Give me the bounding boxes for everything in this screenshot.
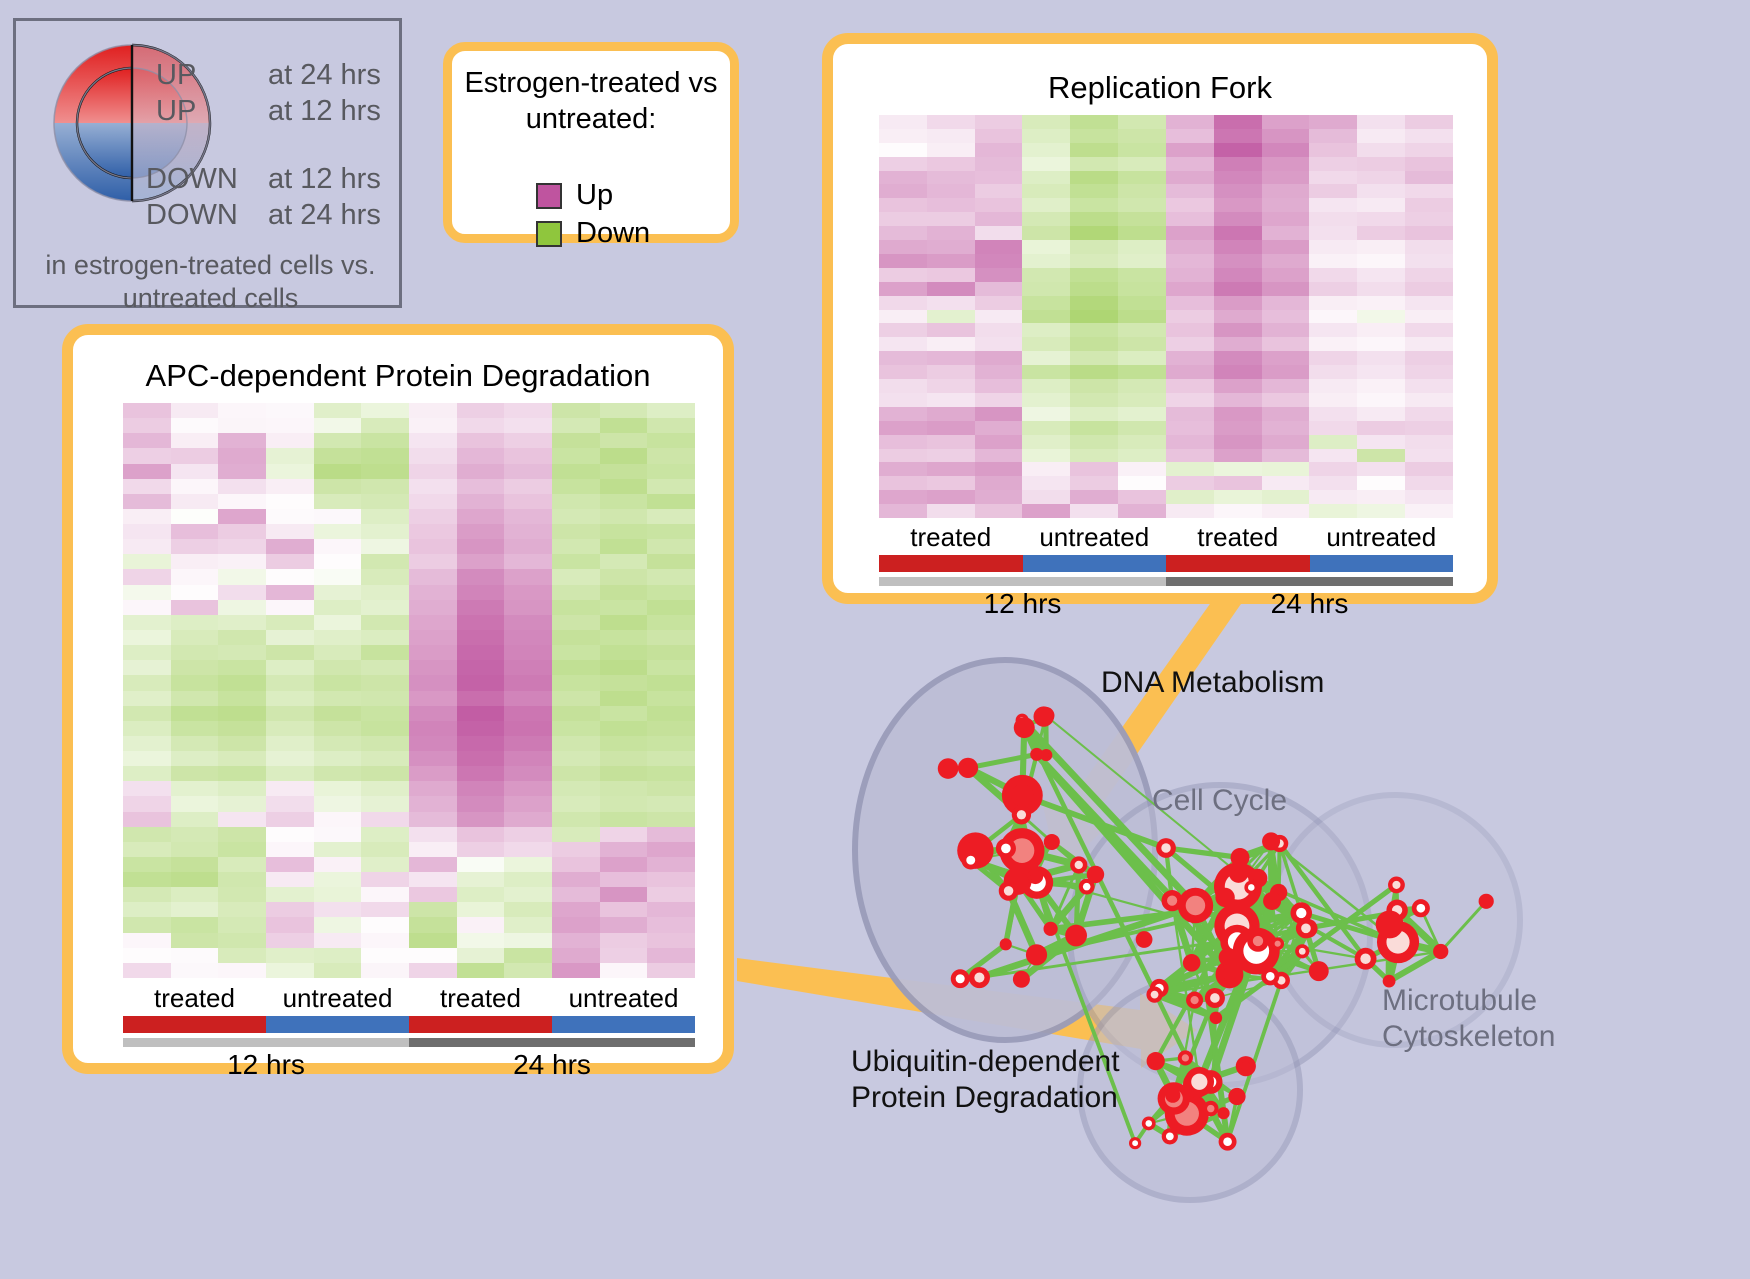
heatmap-cell bbox=[647, 569, 695, 584]
heatmap-cell bbox=[975, 171, 1023, 185]
heatmap-cell bbox=[1022, 504, 1070, 518]
heatmap-cell bbox=[975, 449, 1023, 463]
heatmap-cell bbox=[1166, 198, 1214, 212]
heatmap-cell bbox=[361, 827, 409, 842]
heatmap-cell bbox=[457, 721, 505, 736]
heatmap-cell bbox=[975, 365, 1023, 379]
heatmap-cell bbox=[1405, 351, 1453, 365]
heatmap-cell bbox=[1070, 323, 1118, 337]
heatmap-cell bbox=[1070, 184, 1118, 198]
heatmap-cell bbox=[1309, 365, 1357, 379]
network-node[interactable] bbox=[1070, 856, 1087, 873]
heatmap-cell bbox=[975, 226, 1023, 240]
heatmap-cell bbox=[1022, 212, 1070, 226]
heatmap-cell bbox=[1166, 490, 1214, 504]
heatmap-cell bbox=[123, 569, 171, 584]
heatmap-cell bbox=[975, 268, 1023, 282]
heatmap-cell bbox=[600, 524, 648, 539]
heatmap-cell bbox=[171, 615, 219, 630]
network-node[interactable] bbox=[1219, 948, 1238, 967]
heatmap-cell bbox=[1357, 351, 1405, 365]
heatmap-cell bbox=[975, 129, 1023, 143]
heatmap-cell bbox=[647, 963, 695, 978]
axis-condition-label: treated bbox=[879, 522, 1023, 553]
heatmap-cell bbox=[218, 706, 266, 721]
heatmap-cell bbox=[123, 464, 171, 479]
heatmap-cell bbox=[1214, 421, 1262, 435]
network-node[interactable] bbox=[1205, 988, 1225, 1008]
heatmap-cell bbox=[600, 433, 648, 448]
heatmap-cell bbox=[600, 781, 648, 796]
heatmap-cell bbox=[600, 509, 648, 524]
network-node[interactable] bbox=[1161, 890, 1182, 911]
heatmap-cell bbox=[1357, 254, 1405, 268]
axis-apc: treateduntreatedtreateduntreated 12 hrs2… bbox=[123, 983, 695, 1071]
network-node[interactable] bbox=[1162, 1128, 1178, 1144]
heatmap-cell bbox=[361, 539, 409, 554]
network-node[interactable] bbox=[1183, 954, 1201, 972]
network-node[interactable] bbox=[1012, 805, 1031, 824]
heatmap-cell bbox=[218, 569, 266, 584]
heatmap-cell bbox=[1118, 296, 1166, 310]
heatmap-cell bbox=[361, 615, 409, 630]
heatmap-cell bbox=[314, 585, 362, 600]
heatmap-cell bbox=[218, 917, 266, 932]
network-node[interactable] bbox=[999, 881, 1019, 901]
heatmap-cell bbox=[600, 766, 648, 781]
heatmap-cell bbox=[552, 872, 600, 887]
heatmap-cell bbox=[361, 887, 409, 902]
heatmap-cell bbox=[314, 857, 362, 872]
heatmap-cell bbox=[1309, 254, 1357, 268]
heatmap-cell bbox=[457, 479, 505, 494]
axis-time-label: 24 hrs bbox=[409, 1049, 695, 1081]
network-node[interactable] bbox=[1263, 892, 1281, 910]
heatmap-cell bbox=[1357, 157, 1405, 171]
heatmap-cell bbox=[457, 615, 505, 630]
network-node[interactable] bbox=[1219, 1133, 1237, 1151]
axis-time-bars-rf bbox=[879, 577, 1453, 586]
network-node[interactable] bbox=[1210, 1012, 1223, 1025]
heatmap-cell bbox=[975, 240, 1023, 254]
heatmap-cell bbox=[600, 494, 648, 509]
heatmap-cell bbox=[1405, 310, 1453, 324]
heatmap-cell bbox=[123, 585, 171, 600]
heatmap-cell bbox=[1405, 407, 1453, 421]
heatmap-cell bbox=[361, 630, 409, 645]
heatmap-cell bbox=[1405, 282, 1453, 296]
heatmap-cell bbox=[975, 379, 1023, 393]
heatmap-cell bbox=[1309, 337, 1357, 351]
heatmap-cell bbox=[314, 569, 362, 584]
heatmap-cell bbox=[457, 645, 505, 660]
network-node[interactable] bbox=[1479, 894, 1494, 909]
heatmap-cell bbox=[927, 421, 975, 435]
heatmap-cell bbox=[1357, 240, 1405, 254]
axis-condition-bar bbox=[879, 555, 1023, 572]
heatmap-cell bbox=[647, 796, 695, 811]
network-node[interactable] bbox=[1271, 937, 1284, 950]
heatmap-cell bbox=[1166, 393, 1214, 407]
heatmap-cell bbox=[1309, 476, 1357, 490]
network-node[interactable] bbox=[1186, 992, 1203, 1009]
heatmap-cell bbox=[266, 433, 314, 448]
heatmap-cell bbox=[171, 464, 219, 479]
heatmap-cell bbox=[552, 464, 600, 479]
heatmap-cell bbox=[218, 963, 266, 978]
heatmap-cell bbox=[1070, 490, 1118, 504]
network-node[interactable] bbox=[951, 969, 970, 988]
heatmap-cell bbox=[600, 917, 648, 932]
heatmap-cell bbox=[314, 418, 362, 433]
heatmap-apc bbox=[123, 403, 695, 978]
network-node[interactable] bbox=[1037, 707, 1054, 724]
heatmap-cell bbox=[1022, 129, 1070, 143]
network-node[interactable] bbox=[1309, 961, 1329, 981]
heatmap-cell bbox=[409, 812, 457, 827]
heatmap-cell bbox=[123, 751, 171, 766]
heatmap-cell bbox=[1357, 171, 1405, 185]
heatmap-cell bbox=[123, 554, 171, 569]
heatmap-cell bbox=[1118, 226, 1166, 240]
heatmap-cell bbox=[1118, 407, 1166, 421]
network-node[interactable] bbox=[961, 851, 980, 870]
heatmap-cell bbox=[1262, 296, 1310, 310]
heatmap-cell bbox=[647, 812, 695, 827]
heatmap-cell bbox=[457, 509, 505, 524]
heatmap-cell bbox=[266, 494, 314, 509]
network-node[interactable] bbox=[1065, 925, 1087, 947]
network-node[interactable] bbox=[1185, 1067, 1214, 1096]
heatmap-cell bbox=[1214, 365, 1262, 379]
heatmap-cell bbox=[1214, 435, 1262, 449]
heatmap-cell bbox=[647, 403, 695, 418]
heatmap-cell bbox=[218, 933, 266, 948]
heatmap-cell bbox=[123, 418, 171, 433]
heatmap-cell bbox=[1022, 254, 1070, 268]
network-node[interactable] bbox=[1236, 1056, 1256, 1076]
heatmap-cell bbox=[218, 615, 266, 630]
heatmap-cell bbox=[314, 691, 362, 706]
network-node[interactable] bbox=[1203, 1101, 1219, 1117]
heatmap-cell bbox=[1166, 157, 1214, 171]
network-node[interactable] bbox=[1244, 881, 1258, 895]
heatmap-cell bbox=[1357, 226, 1405, 240]
heatmap-cell bbox=[647, 721, 695, 736]
heatmap-cell bbox=[647, 781, 695, 796]
legend-label-down: Down bbox=[576, 217, 650, 250]
heatmap-cell bbox=[1262, 198, 1310, 212]
heatmap-cell bbox=[879, 157, 927, 171]
heatmap-cell bbox=[600, 736, 648, 751]
heatmap-cell bbox=[171, 887, 219, 902]
heatmap-cell bbox=[409, 706, 457, 721]
network-node[interactable] bbox=[1079, 879, 1095, 895]
heatmap-cell bbox=[504, 615, 552, 630]
heatmap-cell bbox=[218, 494, 266, 509]
heatmap-cell bbox=[409, 539, 457, 554]
network-node[interactable] bbox=[1217, 1107, 1229, 1119]
heatmap-cell bbox=[879, 421, 927, 435]
key-label-down-12: DOWN bbox=[146, 163, 268, 196]
heatmap-cell bbox=[123, 917, 171, 932]
network-node[interactable] bbox=[1014, 717, 1035, 738]
heatmap-cell bbox=[1214, 268, 1262, 282]
heatmap-cell bbox=[1405, 462, 1453, 476]
network-node[interactable] bbox=[1376, 910, 1404, 938]
heatmap-cell bbox=[1405, 129, 1453, 143]
heatmap-cell bbox=[927, 240, 975, 254]
heatmap-cell bbox=[1070, 449, 1118, 463]
network-node[interactable] bbox=[1026, 944, 1047, 965]
heatmap-cell bbox=[600, 872, 648, 887]
heatmap-cell bbox=[1214, 240, 1262, 254]
heatmap-cell bbox=[409, 902, 457, 917]
network-node[interactable] bbox=[969, 967, 990, 988]
heatmap-cell bbox=[266, 615, 314, 630]
heatmap-cell bbox=[1405, 296, 1453, 310]
heatmap-cell bbox=[123, 706, 171, 721]
heatmap-cell bbox=[1214, 184, 1262, 198]
network-node[interactable] bbox=[996, 838, 1016, 858]
heatmap-cell bbox=[1405, 504, 1453, 518]
heatmap-cell bbox=[314, 751, 362, 766]
heatmap-cell bbox=[504, 887, 552, 902]
heatmap-cell bbox=[171, 902, 219, 917]
heatmap-cell bbox=[975, 323, 1023, 337]
heatmap-cell bbox=[171, 585, 219, 600]
heatmap-cell bbox=[1405, 476, 1453, 490]
heatmap-cell bbox=[1262, 337, 1310, 351]
heatmap-cell bbox=[266, 645, 314, 660]
network-node[interactable] bbox=[1261, 967, 1279, 985]
axis-condition-bar bbox=[1310, 555, 1454, 572]
network-node[interactable] bbox=[1129, 1137, 1141, 1149]
heatmap-cell bbox=[457, 524, 505, 539]
heatmap-cell bbox=[647, 630, 695, 645]
network-node[interactable] bbox=[1215, 888, 1234, 907]
legend-swatch-up bbox=[536, 183, 562, 209]
heatmap-cell bbox=[1357, 490, 1405, 504]
network-node[interactable] bbox=[1296, 918, 1316, 938]
heatmap-cell bbox=[1357, 337, 1405, 351]
network-node[interactable] bbox=[1165, 1088, 1180, 1103]
network-node[interactable] bbox=[958, 758, 978, 778]
heatmap-cell bbox=[409, 736, 457, 751]
heatmap-cell bbox=[1118, 254, 1166, 268]
heatmap-cell bbox=[1118, 365, 1166, 379]
heatmap-cell bbox=[123, 721, 171, 736]
network-node[interactable] bbox=[1146, 986, 1162, 1002]
heatmap-cell bbox=[1166, 504, 1214, 518]
heatmap-cell bbox=[218, 554, 266, 569]
heatmap-cell bbox=[266, 524, 314, 539]
axis-condition-label: untreated bbox=[1023, 522, 1167, 553]
heatmap-cell bbox=[1166, 462, 1214, 476]
heatmap-cell bbox=[1166, 254, 1214, 268]
heatmap-cell bbox=[1070, 337, 1118, 351]
network-node[interactable] bbox=[1147, 1052, 1165, 1070]
network-node[interactable] bbox=[1178, 1050, 1193, 1065]
heatmap-cell bbox=[1405, 115, 1453, 129]
heatmap-cell bbox=[1309, 351, 1357, 365]
heatmap-cell bbox=[504, 721, 552, 736]
heatmap-cell bbox=[927, 254, 975, 268]
heatmap-cell bbox=[218, 842, 266, 857]
network-node[interactable] bbox=[1388, 876, 1405, 893]
heatmap-cell bbox=[218, 796, 266, 811]
key-label-up-24: UP bbox=[156, 59, 268, 92]
heatmap-cell bbox=[1166, 171, 1214, 185]
heatmap-cell bbox=[218, 509, 266, 524]
heatmap-cell bbox=[504, 418, 552, 433]
heatmap-cell bbox=[1022, 393, 1070, 407]
heatmap-cell bbox=[879, 435, 927, 449]
heatmap-cell bbox=[123, 781, 171, 796]
heatmap-cell bbox=[1405, 435, 1453, 449]
heatmap-cell bbox=[1022, 310, 1070, 324]
heatmap-cell bbox=[552, 418, 600, 433]
heatmap-cell bbox=[218, 721, 266, 736]
heatmap-cell bbox=[1166, 184, 1214, 198]
heatmap-cell bbox=[1118, 462, 1166, 476]
heatmap-cell bbox=[409, 645, 457, 660]
heatmap-cell bbox=[647, 933, 695, 948]
heatmap-cell bbox=[409, 585, 457, 600]
heatmap-cell bbox=[457, 766, 505, 781]
heatmap-cell bbox=[314, 902, 362, 917]
heatmap-cell bbox=[1166, 435, 1214, 449]
network-node[interactable] bbox=[1178, 888, 1213, 923]
heatmap-cell bbox=[1405, 393, 1453, 407]
heatmap-cell bbox=[1022, 157, 1070, 171]
heatmap-cell bbox=[171, 433, 219, 448]
network-node[interactable] bbox=[1231, 848, 1250, 867]
heatmap-cell bbox=[647, 448, 695, 463]
network-node[interactable] bbox=[1013, 971, 1030, 988]
heatmap-cell bbox=[927, 490, 975, 504]
heatmap-cell bbox=[1166, 240, 1214, 254]
heatmap-cell bbox=[552, 585, 600, 600]
heatmap-cell bbox=[361, 751, 409, 766]
heatmap-cell bbox=[314, 933, 362, 948]
heatmap-cell bbox=[504, 827, 552, 842]
heatmap-cell bbox=[1214, 129, 1262, 143]
network-node[interactable] bbox=[1142, 1117, 1156, 1131]
heatmap-cell bbox=[1166, 296, 1214, 310]
heatmap-cell bbox=[879, 129, 927, 143]
network-node[interactable] bbox=[1044, 922, 1058, 936]
heatmap-cell bbox=[171, 766, 219, 781]
heatmap-cell bbox=[457, 675, 505, 690]
heatmap-cell bbox=[1070, 435, 1118, 449]
network-node[interactable] bbox=[1433, 944, 1448, 959]
heatmap-cell bbox=[266, 675, 314, 690]
heatmap-cell bbox=[1022, 184, 1070, 198]
heatmap-cell bbox=[1309, 310, 1357, 324]
axis-condition-label: untreated bbox=[552, 983, 695, 1014]
heatmap-cell bbox=[552, 781, 600, 796]
heatmap-cell bbox=[218, 539, 266, 554]
network-node[interactable] bbox=[1247, 930, 1269, 952]
heatmap-cell bbox=[504, 509, 552, 524]
heatmap-cell bbox=[1405, 490, 1453, 504]
heatmap-cell bbox=[1070, 462, 1118, 476]
heatmap-cell bbox=[218, 887, 266, 902]
network-node[interactable] bbox=[938, 758, 959, 779]
heatmap-cell bbox=[552, 887, 600, 902]
heatmap-cell bbox=[1214, 449, 1262, 463]
heatmap-cell bbox=[314, 645, 362, 660]
heatmap-cell bbox=[1070, 240, 1118, 254]
network-node[interactable] bbox=[1136, 931, 1153, 948]
heatmap-cell bbox=[409, 842, 457, 857]
heatmap-cell bbox=[171, 917, 219, 932]
network-node[interactable] bbox=[1355, 948, 1377, 970]
heatmap-cell bbox=[600, 418, 648, 433]
heatmap-cell bbox=[504, 781, 552, 796]
heatmap-cell bbox=[1405, 226, 1453, 240]
network-node[interactable] bbox=[1295, 944, 1309, 958]
network-node[interactable] bbox=[1000, 938, 1012, 950]
heatmap-cell bbox=[314, 494, 362, 509]
network-node[interactable] bbox=[1044, 834, 1060, 850]
heatmap-cell bbox=[879, 282, 927, 296]
network-node[interactable] bbox=[1412, 899, 1430, 917]
heatmap-cell bbox=[409, 827, 457, 842]
network-node[interactable] bbox=[1040, 749, 1052, 761]
heatmap-cell bbox=[504, 645, 552, 660]
heatmap-cell bbox=[266, 464, 314, 479]
heatmap-cell bbox=[1118, 323, 1166, 337]
heatmap-cell bbox=[266, 842, 314, 857]
heatmap-cell bbox=[927, 115, 975, 129]
heatmap-cell bbox=[266, 403, 314, 418]
heatmap-cell bbox=[266, 630, 314, 645]
heatmap-cell bbox=[361, 433, 409, 448]
heatmap-cell bbox=[266, 706, 314, 721]
heatmap-cell bbox=[1070, 157, 1118, 171]
network-node[interactable] bbox=[1262, 832, 1280, 850]
legend-box: Estrogen-treated vs untreated: Up Down bbox=[443, 42, 739, 243]
heatmap-cell bbox=[457, 827, 505, 842]
heatmap-cell bbox=[123, 675, 171, 690]
heatmap-cell bbox=[1118, 240, 1166, 254]
heatmap-cell bbox=[1309, 435, 1357, 449]
heatmap-cell bbox=[647, 479, 695, 494]
heatmap-cell bbox=[1070, 504, 1118, 518]
heatmap-cell bbox=[1262, 310, 1310, 324]
heatmap-cell bbox=[600, 403, 648, 418]
heatmap-cell bbox=[1262, 282, 1310, 296]
heatmap-cell bbox=[1166, 143, 1214, 157]
heatmap-cell bbox=[123, 963, 171, 978]
heatmap-cell bbox=[552, 433, 600, 448]
heatmap-cell bbox=[361, 600, 409, 615]
network-node[interactable] bbox=[1228, 1088, 1245, 1105]
heatmap-cell bbox=[123, 494, 171, 509]
network-node[interactable] bbox=[1156, 838, 1176, 858]
heatmap-cell bbox=[1022, 240, 1070, 254]
heatmap-cell bbox=[1309, 143, 1357, 157]
heatmap-cell bbox=[361, 872, 409, 887]
heatmap-cell bbox=[361, 706, 409, 721]
heatmap-cell bbox=[409, 796, 457, 811]
heatmap-cell bbox=[409, 494, 457, 509]
legend-item-down: Down bbox=[536, 217, 650, 250]
heatmap-cell bbox=[1309, 184, 1357, 198]
heatmap-cell bbox=[1118, 115, 1166, 129]
